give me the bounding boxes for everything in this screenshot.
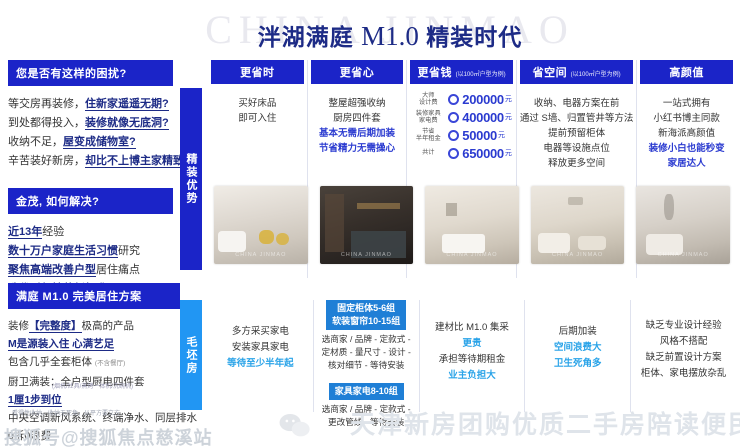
problem-heading: 您是否有这样的困扰?	[8, 60, 173, 86]
column-header-label: 更省心	[340, 67, 375, 79]
column-line: 通过 S墙、归置管井等方法	[520, 111, 633, 126]
sohu-watermark: 搜狐号@搜狐焦点慈溪站	[4, 424, 213, 448]
bottom-line: 卫生死角多	[529, 356, 626, 372]
column-line: 新海派高颜值	[640, 126, 733, 141]
plan-note: (烟机/灶具/蒸烤一体机/洗碗机)	[52, 384, 133, 391]
problem-list: 等交房再装修，住新家遥遥无期? 到处都得投入，装修就像无底洞? 收纳不足，屋变成…	[8, 95, 173, 171]
plan-tail: 极高的产品	[82, 320, 135, 332]
wechat-icon	[278, 412, 312, 438]
photo-cell: CHINA JINMAO	[314, 180, 420, 270]
bottom-line: 更贵	[424, 336, 521, 352]
solution-plain: 居住痛点	[96, 264, 140, 276]
column-body: 整屋超强收纳 厨房四件套 基本无需后期加装 节省精力无需操心	[311, 84, 404, 156]
lounge-photo: CHINA JINMAO	[636, 186, 730, 264]
price-value: 200000	[462, 92, 504, 107]
plan-plain: 装修	[8, 320, 29, 332]
photo-strip: CHINA JINMAO CHINA JINMAO CHINA JINMAO C…	[208, 180, 736, 270]
problem-emphasis: 却比不上博主家精致?	[85, 155, 191, 168]
price-unit: 元	[498, 130, 505, 140]
column-line: 小红书博主同款	[640, 111, 733, 126]
plan-note: (不含餐厅)	[95, 360, 125, 367]
solution-plan-heading: 满庭 M1.0 完美居住方案	[8, 283, 180, 309]
plan-plain: 包含几乎全套柜体	[8, 356, 92, 368]
living-room-photo: CHINA JINMAO	[214, 186, 308, 264]
price-label: 大师设计费	[411, 92, 445, 107]
price-row: 节省半年租金 50000 元	[411, 126, 512, 144]
kitchen-photo: CHINA JINMAO	[320, 186, 414, 264]
column-line: 家居达人	[640, 156, 733, 171]
solution-heading: 金茂, 如何解决?	[8, 188, 173, 214]
solution-plain: 研究	[118, 245, 140, 257]
bottom-line: 多方采买家电	[212, 324, 309, 340]
column-header-label: 更省时	[240, 67, 275, 79]
column-line: 买好床品	[211, 96, 304, 111]
bottom-column-worry: 固定柜体5-6组软装窗帘10-15组 选商家 / 品牌 - 定款式 -定材质 -…	[313, 300, 419, 412]
problem-emphasis: 装修就像无底洞?	[85, 117, 169, 130]
badge-cabinets: 固定柜体5-6组软装窗帘10-15组	[326, 300, 406, 330]
photo-watermark: CHINA JINMAO	[636, 252, 730, 258]
solution-item: 数十万户家庭生活习惯研究	[8, 242, 173, 261]
solution-emphasis: 聚焦高端改善户型	[8, 264, 96, 277]
column-body: 买好床品 即可入住	[211, 84, 304, 126]
bedroom-photo: CHINA JINMAO	[425, 186, 519, 264]
plan-emphasis: M是源装入住 心满艺足	[8, 338, 114, 351]
price-unit: 元	[505, 112, 512, 122]
photo-cell: CHINA JINMAO	[208, 180, 314, 270]
problem-emphasis: 住新家遥遥无期?	[85, 98, 169, 111]
problem-plain: 到处都得投入，	[8, 117, 85, 129]
plan-item: 装修【完整度】极高的产品	[8, 317, 180, 335]
dining-room-photo: CHINA JINMAO	[531, 186, 625, 264]
solution-emphasis: 数十万户家庭生活习惯	[8, 245, 118, 258]
column-line: 基本无需后期加装	[311, 126, 404, 141]
price-label: 节省半年租金	[411, 128, 445, 143]
bottom-line: 安装家具家电	[212, 340, 309, 356]
bullet-icon	[448, 112, 459, 123]
bottom-column-space: 后期加装 空间浪费大 卫生死角多	[524, 300, 630, 412]
bottom-line: 缺乏前置设计方案	[635, 350, 732, 366]
bottom-line: 空间浪费大	[529, 340, 626, 356]
bullet-icon	[448, 148, 459, 159]
price-row: 大师设计费 200000 元	[411, 90, 512, 108]
bottom-line: 风格不搭配	[635, 334, 732, 350]
column-body: 一站式拥有 小红书博主同款 新海派高颜值 装修小白也能秒变 家居达人	[640, 84, 733, 171]
problem-plain: 等交房再装修，	[8, 98, 85, 110]
photo-cell: CHINA JINMAO	[419, 180, 525, 270]
column-header: 高颜值	[640, 60, 733, 84]
badge-appliances: 家具家电8-10组	[329, 383, 404, 400]
title-suffix: 精装时代	[426, 24, 522, 50]
photo-watermark: CHINA JINMAO	[425, 252, 519, 258]
column-header: 更省钱 (以100㎡户型为例)	[410, 60, 513, 84]
column-header-label: 省空间	[533, 67, 568, 79]
column-header: 省空间 (以100㎡户型为例)	[520, 60, 633, 84]
photo-watermark: CHINA JINMAO	[214, 252, 308, 258]
plan-footer-note: 看得性收纳，收纳无死角，从平方要立方	[12, 408, 120, 417]
plan-item: (烟机/灶具/蒸烤一体机/洗碗机)1厘1步到位	[8, 391, 180, 409]
bottom-line: 业主负担大	[424, 368, 521, 384]
spacer	[8, 171, 173, 188]
badge-sub-text: 选商家 / 品牌 - 定款式 -定材质 - 量尺寸 - 设计 -核对细节 - 等…	[318, 333, 415, 372]
bottom-column-time: 多方采买家电 安装家具家电 等待至少半年起	[208, 300, 313, 412]
problem-item: 等交房再装修，住新家遥遥无期?	[8, 95, 173, 114]
column-line: 一站式拥有	[640, 96, 733, 111]
bottom-banner-watermark: 天津新房团购优质二手房陪读便民	[350, 405, 740, 441]
column-header: 更省心	[311, 60, 404, 84]
solution-item: 近13年经验	[8, 223, 173, 242]
column-line: 释放更多空间	[520, 156, 633, 171]
price-unit: 元	[505, 148, 512, 158]
solution-emphasis: 近13年	[8, 226, 42, 239]
photo-cell: CHINA JINMAO	[630, 180, 736, 270]
solution-item: 聚焦高端改善户型居住痛点	[8, 261, 173, 280]
bottom-line: 缺乏专业设计经验	[635, 318, 732, 334]
price-row: 装修家具家电费 400000 元	[411, 108, 512, 126]
column-header-note: (以100㎡户型为例)	[571, 72, 621, 78]
price-label: 共计	[411, 149, 445, 157]
bottom-column-style: 缺乏专业设计经验 风格不搭配 缺乏前置设计方案 柜体、家电摆放杂乱	[630, 300, 736, 412]
bottom-line: 承担等待期租金	[424, 352, 521, 368]
price-label: 装修家具家电费	[411, 110, 445, 125]
solution-plain: 经验	[42, 226, 64, 238]
problem-plain: 辛苦装好新房，	[8, 155, 85, 167]
column-body: 收纳、电器方案在前 通过 S墙、归置管井等方法 提前预留柜体 电器等设施点位 释…	[520, 84, 633, 171]
price-row-total: 共计 650000 元	[411, 144, 512, 162]
column-header: 更省时	[211, 60, 304, 84]
plan-item: 包含几乎全套柜体 (不含餐厅)	[8, 353, 180, 373]
column-header-note: (以100㎡户型为例)	[456, 72, 506, 78]
column-header-label: 更省钱	[418, 67, 453, 79]
price-value: 400000	[462, 110, 504, 125]
bottom-line: 等待至少半年起	[212, 356, 309, 372]
column-line: 收纳、电器方案在前	[520, 96, 633, 111]
column-line: 即可入住	[211, 111, 304, 126]
column-line: 电器等设施点位	[520, 141, 633, 156]
badge-group: 固定柜体5-6组软装窗帘10-15组 选商家 / 品牌 - 定款式 -定材质 -…	[318, 300, 415, 372]
column-line: 厨房四件套	[311, 111, 404, 126]
bottom-line: 柜体、家电摆放杂乱	[635, 366, 732, 382]
column-header-label: 高颜值	[669, 67, 704, 79]
drawback-columns: 多方采买家电 安装家具家电 等待至少半年起 固定柜体5-6组软装窗帘10-15组…	[208, 300, 736, 412]
left-panel-problems: 您是否有这样的困扰? 等交房再装修，住新家遥遥无期? 到处都得投入，装修就像无底…	[8, 60, 173, 299]
column-line: 节省精力无需操心	[311, 141, 404, 156]
title-prefix: 泮湖满庭	[258, 24, 354, 50]
rail-label-bare: 毛坯房	[180, 300, 202, 410]
bullet-icon	[448, 130, 459, 141]
bullet-icon	[448, 94, 459, 105]
problem-item: 到处都得投入，装修就像无底洞?	[8, 114, 173, 133]
infographic-canvas: CHINA JINMAO 泮湖满庭 M1.0 精装时代 您是否有这样的困扰? 等…	[0, 0, 740, 448]
bottom-line: 建材比 M1.0 集采	[424, 320, 521, 336]
column-line: 装修小白也能秒变	[640, 141, 733, 156]
plan-emphasis: 【完整度】	[29, 320, 82, 333]
title-zone: CHINA JINMAO 泮湖满庭 M1.0 精装时代	[0, 0, 740, 58]
plan-item: M是源装入住 心满艺足	[8, 335, 180, 353]
photo-watermark: CHINA JINMAO	[531, 252, 625, 258]
photo-cell: CHINA JINMAO	[525, 180, 631, 270]
photo-watermark: CHINA JINMAO	[320, 252, 414, 258]
rail-label-premium: 精装优势	[180, 88, 202, 270]
bottom-column-money: 建材比 M1.0 集采 更贵 承担等待期租金 业主负担大	[419, 300, 525, 412]
page-title: 泮湖满庭 M1.0 精装时代	[150, 18, 630, 52]
column-line: 整屋超强收纳	[311, 96, 404, 111]
plan-emphasis: 1厘1步到位	[8, 394, 62, 407]
problem-emphasis: 屋变成储物室?	[63, 136, 136, 149]
price-table: 大师设计费 200000 元 装修家具家电费 400000 元 节省半年租金 5…	[410, 90, 513, 162]
price-unit: 元	[505, 94, 512, 104]
left-panel-solution: 满庭 M1.0 完美居住方案 装修【完整度】极高的产品 M是源装入住 心满艺足 …	[8, 283, 180, 445]
bottom-line: 后期加装	[529, 324, 626, 340]
problem-plain: 收纳不足，	[8, 136, 63, 148]
price-value: 50000	[462, 128, 497, 143]
spacer	[318, 372, 415, 381]
price-value: 650000	[462, 146, 504, 161]
title-series: M1.0	[361, 21, 419, 51]
problem-item: 辛苦装好新房，却比不上博主家精致?	[8, 152, 173, 171]
problem-item: 收纳不足，屋变成储物室?	[8, 133, 173, 152]
column-line: 提前预留柜体	[520, 126, 633, 141]
